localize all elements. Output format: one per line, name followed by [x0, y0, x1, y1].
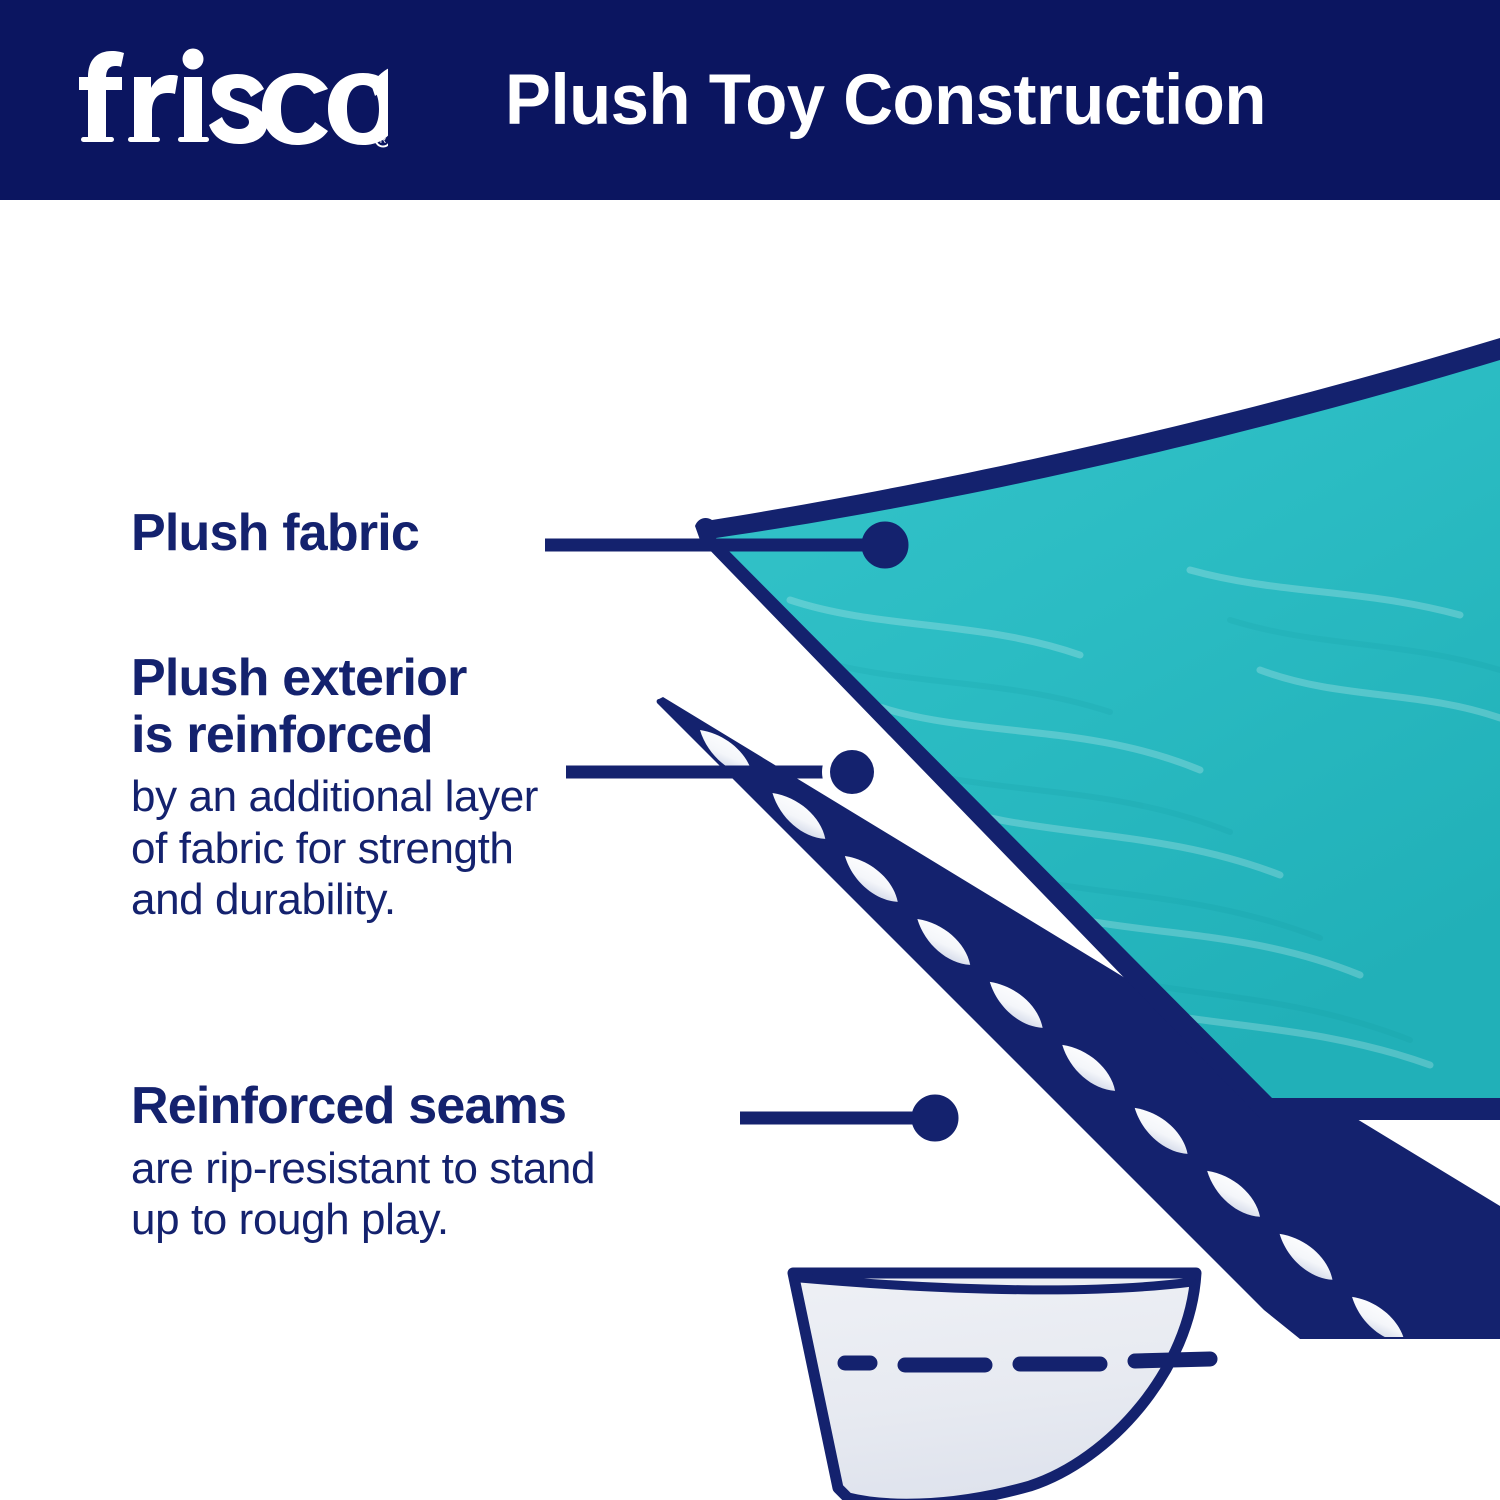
- stitch-dashes: [845, 1359, 1210, 1365]
- callout-plush-fabric-heading: Plush fabric: [131, 505, 419, 562]
- frisco-logo: R: [78, 46, 388, 151]
- callout-plush-fabric: Plush fabric: [131, 505, 419, 562]
- callout-reinforced-seams-heading: Reinforced seams: [131, 1078, 595, 1135]
- marker-dot-reinforced-seams: [912, 1095, 958, 1141]
- infographic-page: R Plush Toy Construction: [0, 0, 1500, 1500]
- marker-dot-plush-exterior: [830, 750, 874, 794]
- callout-reinforced-seams: Reinforced seams are rip-resistant to st…: [131, 1078, 595, 1246]
- page-title: Plush Toy Construction: [505, 0, 1266, 200]
- svg-text:R: R: [380, 135, 387, 145]
- callout-plush-exterior-heading: Plush exterior is reinforced: [131, 650, 538, 763]
- callout-plush-exterior-body: by an additional layer of fabric for str…: [131, 771, 538, 925]
- leader-reinforced-seams: [740, 1095, 958, 1141]
- callout-plush-exterior: Plush exterior is reinforced by an addit…: [131, 650, 538, 926]
- header-bar: R Plush Toy Construction: [0, 0, 1500, 200]
- callout-reinforced-seams-body: are rip-resistant to stand up to rough p…: [131, 1143, 595, 1246]
- marker-dot-plush-fabric: [862, 522, 908, 568]
- seam-flap: [790, 1273, 1210, 1500]
